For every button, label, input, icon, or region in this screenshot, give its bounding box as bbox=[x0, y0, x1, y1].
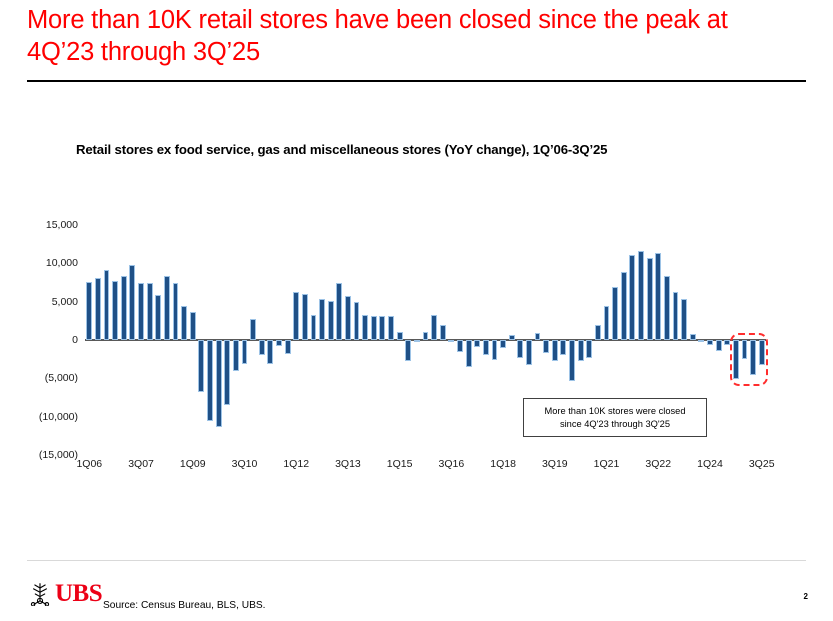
y-axis-tick-label: (10,000) bbox=[18, 411, 78, 423]
y-axis-tick-label: 0 bbox=[18, 334, 78, 346]
bar bbox=[216, 340, 222, 427]
bar bbox=[595, 325, 601, 340]
bar bbox=[155, 295, 161, 340]
bar bbox=[517, 340, 523, 358]
bar bbox=[552, 340, 558, 361]
bar bbox=[492, 340, 498, 360]
bar bbox=[190, 312, 196, 340]
bar bbox=[673, 292, 679, 340]
y-axis-tick-label: 5,000 bbox=[18, 296, 78, 308]
bar bbox=[285, 340, 291, 354]
bar bbox=[207, 340, 213, 421]
bar bbox=[612, 287, 618, 340]
y-axis-tick-label: (5,000) bbox=[18, 372, 78, 384]
x-axis-tick-label: 3Q10 bbox=[232, 458, 258, 470]
bar bbox=[405, 340, 411, 361]
dashed-highlight-icon bbox=[730, 333, 768, 386]
bar bbox=[276, 340, 282, 346]
bar bbox=[224, 340, 230, 405]
bar bbox=[138, 283, 144, 340]
x-axis-tick-label: 1Q09 bbox=[180, 458, 206, 470]
bar bbox=[423, 332, 429, 340]
y-axis-tick-label: 10,000 bbox=[18, 257, 78, 269]
bar bbox=[164, 276, 170, 340]
bar bbox=[233, 340, 239, 371]
bar bbox=[242, 340, 248, 364]
bar bbox=[362, 315, 368, 340]
page-number: 2 bbox=[804, 592, 808, 601]
bar bbox=[629, 255, 635, 340]
bar bbox=[543, 340, 549, 353]
bar bbox=[336, 283, 342, 341]
bar bbox=[293, 292, 299, 340]
bar bbox=[198, 340, 204, 392]
bar bbox=[354, 302, 360, 340]
bar bbox=[181, 306, 187, 341]
bar bbox=[440, 325, 446, 340]
bar bbox=[259, 340, 265, 355]
page-title: More than 10K retail stores have been cl… bbox=[27, 4, 807, 68]
bar bbox=[388, 316, 394, 340]
bar bbox=[681, 299, 687, 340]
bar bbox=[647, 258, 653, 340]
bar bbox=[707, 340, 713, 345]
bar bbox=[129, 265, 135, 340]
bar bbox=[371, 316, 377, 340]
bar bbox=[121, 276, 127, 340]
bar bbox=[509, 335, 515, 340]
bar bbox=[690, 334, 696, 340]
y-axis-tick-label: (15,000) bbox=[18, 449, 78, 461]
bar bbox=[250, 319, 256, 340]
bar bbox=[345, 296, 351, 340]
bar bbox=[95, 278, 101, 340]
bar bbox=[664, 276, 670, 340]
bar bbox=[500, 340, 506, 348]
ubs-wordmark: UBS bbox=[55, 582, 102, 606]
x-axis-tick-label: 3Q19 bbox=[542, 458, 568, 470]
x-axis-tick-label: 3Q13 bbox=[335, 458, 361, 470]
bar bbox=[147, 283, 153, 340]
ubs-three-keys-icon bbox=[27, 582, 53, 606]
bar bbox=[86, 282, 92, 340]
bar bbox=[655, 253, 661, 340]
bar bbox=[302, 294, 308, 340]
annotation-callout-text: More than 10K stores were closed since 4… bbox=[544, 405, 685, 430]
bar bbox=[328, 301, 334, 340]
bar bbox=[604, 306, 610, 340]
bar bbox=[173, 283, 179, 340]
source-note: Source: Census Bureau, BLS, UBS. bbox=[103, 600, 266, 611]
x-axis-tick-label: 1Q15 bbox=[387, 458, 413, 470]
bar bbox=[397, 332, 403, 340]
bar bbox=[112, 281, 118, 340]
bar bbox=[526, 340, 532, 365]
x-axis: 1Q063Q071Q093Q101Q123Q131Q153Q161Q183Q19… bbox=[85, 458, 766, 478]
bar bbox=[560, 340, 566, 355]
y-axis: 15,00010,0005,0000(5,000)(10,000)(15,000… bbox=[18, 0, 78, 621]
x-axis-tick-label: 3Q25 bbox=[749, 458, 775, 470]
x-axis-tick-label: 1Q06 bbox=[76, 458, 102, 470]
ubs-logo: UBS bbox=[27, 581, 102, 607]
bar bbox=[311, 315, 317, 340]
x-axis-tick-label: 3Q22 bbox=[645, 458, 671, 470]
bar bbox=[535, 333, 541, 340]
x-axis-tick-label: 1Q24 bbox=[697, 458, 723, 470]
bar bbox=[267, 340, 273, 364]
bar bbox=[319, 299, 325, 340]
annotation-callout: More than 10K stores were closed since 4… bbox=[523, 398, 707, 437]
x-axis-tick-label: 3Q07 bbox=[128, 458, 154, 470]
x-axis-tick-label: 3Q16 bbox=[439, 458, 465, 470]
bar bbox=[414, 340, 420, 342]
x-axis-tick-label: 1Q21 bbox=[594, 458, 620, 470]
bar bbox=[474, 340, 480, 347]
bar bbox=[578, 340, 584, 361]
bar bbox=[621, 272, 627, 340]
title-divider bbox=[27, 80, 806, 82]
bar bbox=[483, 340, 489, 355]
bar bbox=[448, 340, 454, 342]
bar bbox=[698, 340, 704, 342]
x-axis-tick-label: 1Q18 bbox=[490, 458, 516, 470]
bar bbox=[457, 340, 463, 352]
bar bbox=[431, 315, 437, 340]
footer-divider bbox=[27, 560, 806, 561]
bar bbox=[638, 251, 644, 340]
bar bbox=[716, 340, 722, 351]
x-axis-tick-label: 1Q12 bbox=[283, 458, 309, 470]
y-axis-tick-label: 15,000 bbox=[18, 219, 78, 231]
bar bbox=[104, 270, 110, 340]
bar bbox=[586, 340, 592, 358]
bar bbox=[569, 340, 575, 381]
bar bbox=[379, 316, 385, 340]
chart-title: Retail stores ex food service, gas and m… bbox=[76, 142, 607, 157]
bar bbox=[466, 340, 472, 367]
